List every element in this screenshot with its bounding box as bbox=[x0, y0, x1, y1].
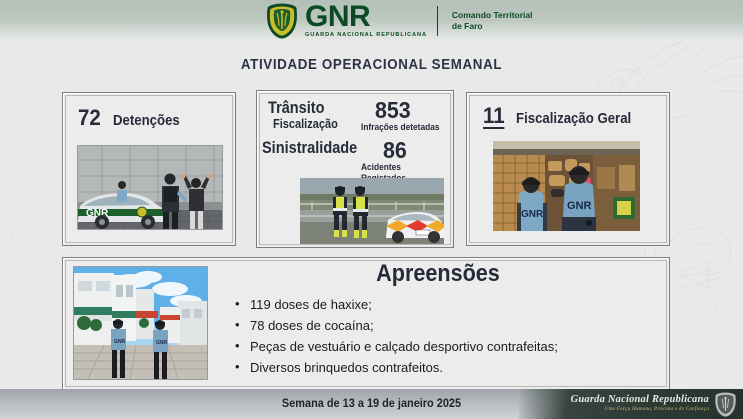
gnr-wordmark-subtitle: GUARDA NACIONAL REPUBLICANA bbox=[305, 31, 427, 39]
transito-number-caption: Infrações detetadas bbox=[361, 122, 440, 133]
sinistralidade-label: Sinistralidade bbox=[262, 139, 357, 158]
logo-divider bbox=[437, 6, 438, 36]
card-apreensoes: GNR GNR Apreensões 119 doses de haxixe; … bbox=[62, 257, 670, 390]
detencoes-number: 72 bbox=[78, 105, 101, 131]
svg-text:GNR: GNR bbox=[521, 209, 544, 220]
apreensoes-list: 119 doses de haxixe; 78 doses de cocaína… bbox=[233, 294, 558, 378]
card-detencoes: 72 Detenções GNR bbox=[62, 92, 236, 246]
detencoes-stat-row: 72 Detenções bbox=[78, 105, 189, 131]
list-item: Diversos brinquedos contrafeitos. bbox=[233, 357, 558, 378]
list-item: Peças de vestuário e calçado desportivo … bbox=[233, 336, 558, 357]
fiscalizacao-stat-row: 11 Fiscalização Geral bbox=[483, 105, 647, 129]
apreensoes-photo: GNR GNR bbox=[73, 266, 208, 380]
footer-brand-name: Guarda Nacional Republicana bbox=[571, 394, 709, 406]
comando-territorial-text: Comando Territorial de Faro bbox=[452, 10, 533, 32]
fiscalizacao-number: 11 bbox=[483, 105, 505, 129]
gnr-shield-emblem-icon bbox=[265, 3, 299, 39]
svg-text:GNR: GNR bbox=[567, 200, 592, 212]
gnr-wordmark: GNR bbox=[305, 4, 427, 30]
footer-shield-emblem-icon bbox=[713, 392, 738, 417]
comando-line-1: Comando Territorial bbox=[452, 10, 533, 21]
fiscalizacao-photo: GNR GNR bbox=[493, 141, 640, 231]
list-item: 119 doses de haxixe; bbox=[233, 294, 558, 315]
card-fiscalizacao: 11 Fiscalização Geral bbox=[466, 92, 670, 246]
sinistralidade-number: 86 bbox=[383, 137, 407, 164]
footer-bar: Semana de 13 a 19 de janeiro 2025 Guarda… bbox=[0, 389, 743, 419]
fiscalizacao-label: Fiscalização Geral bbox=[516, 110, 631, 127]
apreensoes-title: Apreensões bbox=[240, 260, 636, 288]
page-title: ATIVIDADE OPERACIONAL SEMANAL bbox=[30, 57, 714, 73]
footer-brand-text: Guarda Nacional Republicana Uma Força Hu… bbox=[571, 394, 709, 413]
gnr-logo: GNR GUARDA NACIONAL REPUBLICANA Comando … bbox=[265, 3, 533, 39]
slide-canvas: GNR GUARDA NACIONAL REPUBLICANA Comando … bbox=[0, 0, 743, 419]
comando-line-2: de Faro bbox=[452, 21, 533, 32]
card-transito: Trânsito Fiscalização 853 Infrações dete… bbox=[256, 90, 454, 248]
transito-photo bbox=[300, 178, 444, 244]
svg-text:GNR: GNR bbox=[114, 339, 126, 345]
list-item: 78 doses de cocaína; bbox=[233, 315, 558, 336]
transito-label: Trânsito bbox=[268, 99, 324, 118]
transito-number: 853 bbox=[375, 97, 411, 124]
transito-sublabel: Fiscalização bbox=[273, 117, 338, 131]
detencoes-label: Detenções bbox=[113, 112, 180, 129]
footer-brand-motto: Uma Força Humana, Próxima e de Confiança bbox=[571, 406, 709, 413]
detencoes-photo: GNR bbox=[77, 145, 223, 230]
svg-text:GNR: GNR bbox=[156, 340, 168, 346]
